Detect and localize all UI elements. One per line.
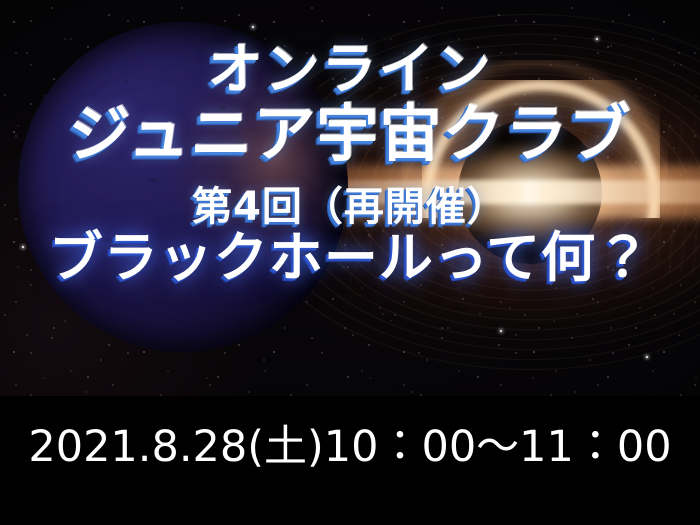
session-label: 第4回（再開催）: [0, 187, 700, 227]
headline-block: オンライン ジュニア宇宙クラブ 第4回（再開催） ブラックホールって何？: [0, 42, 700, 285]
topic-title: ブラックホールって何？: [0, 231, 700, 285]
title-line-1: オンライン: [0, 42, 700, 97]
poster-canvas: オンライン ジュニア宇宙クラブ 第4回（再開催） ブラックホールって何？ 202…: [0, 0, 700, 525]
title-line-2: ジュニア宇宙クラブ: [0, 103, 700, 165]
date-bar: 2021.8.28(土)10：00〜11：00: [0, 396, 700, 525]
date-time-text: 2021.8.28(土)10：00〜11：00: [0, 412, 700, 474]
